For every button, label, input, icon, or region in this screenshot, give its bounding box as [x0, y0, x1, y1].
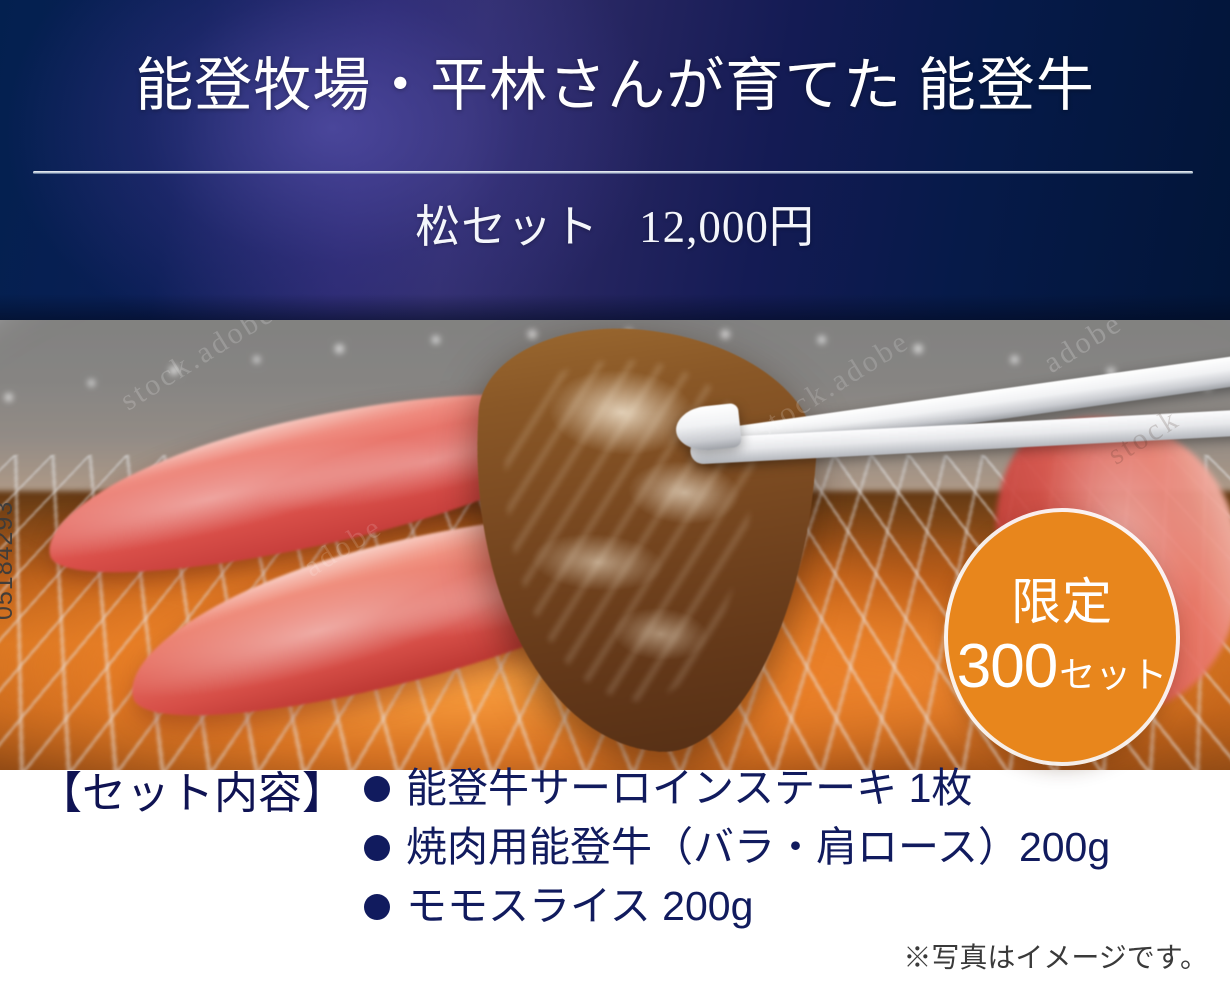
set-name-label: 松セット: [415, 202, 599, 252]
list-item-label: モモスライス 200g: [406, 886, 753, 927]
list-item-label: 能登牛サーロインステーキ 1枚: [406, 768, 972, 809]
list-item: 能登牛サーロインステーキ 1枚: [364, 768, 1110, 809]
set-contents-list: 能登牛サーロインステーキ 1枚 焼肉用能登牛（バラ・肩ロース）200g モモスラ…: [364, 768, 1110, 945]
list-item: 焼肉用能登牛（バラ・肩ロース）200g: [364, 827, 1110, 868]
bullet-icon: [364, 894, 390, 920]
list-item: モモスライス 200g: [364, 886, 1110, 927]
set-price-label: 12,000円: [639, 202, 815, 252]
badge-quantity-row: 300 セット: [957, 636, 1167, 698]
badge-limited-label: 限定: [1011, 576, 1113, 629]
limited-quantity-badge: 限定 300 セット: [948, 512, 1176, 762]
badge-unit: セット: [1059, 657, 1167, 693]
bullet-icon: [364, 776, 390, 802]
set-contents-label: 【セット内容】: [38, 772, 346, 816]
badge-count: 300: [957, 636, 1057, 698]
list-item-label: 焼肉用能登牛（バラ・肩ロース）200g: [406, 827, 1110, 868]
bullet-icon: [364, 835, 390, 861]
photo-disclaimer-note: ※写真はイメージです。: [903, 944, 1208, 972]
photo-id-watermark: 05184293: [0, 501, 19, 620]
promo-card: 能登牧場・平林さんが育てた 能登牛 松セット12,000円 stock.adob…: [0, 0, 1230, 996]
header-banner: 能登牧場・平林さんが育てた 能登牛 松セット12,000円: [0, 0, 1230, 320]
page-title: 能登牧場・平林さんが育てた 能登牛: [0, 57, 1230, 115]
header-divider: [33, 171, 1193, 174]
header-subtitle: 松セット12,000円: [0, 205, 1230, 250]
